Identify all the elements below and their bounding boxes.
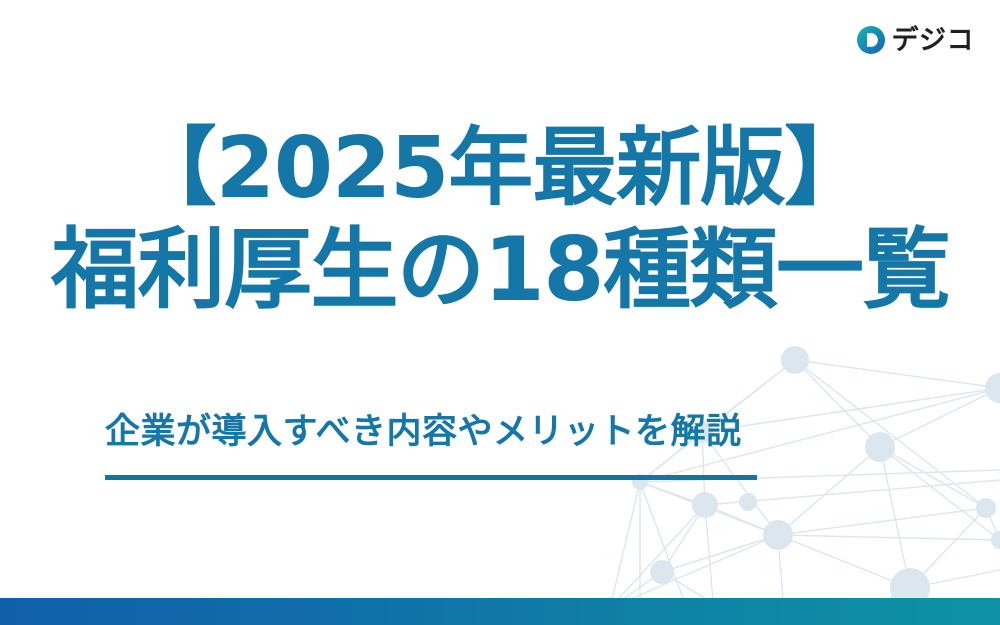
thumbnail-canvas: デジコ 【2025年最新版】 福利厚生の18種類一覧 企業が導入すべき内容やメリ…: [0, 0, 1000, 625]
bottom-gradient-bar: [0, 598, 1000, 625]
digico-circle-d-mark-icon: [857, 26, 885, 54]
page-title: 【2025年最新版】 福利厚生の18種類一覧: [0, 118, 1000, 320]
logo-wordmark: デジコ: [892, 27, 975, 54]
page-title-line-1: 【2025年最新版】: [0, 118, 1000, 219]
subtitle-underline: [105, 475, 757, 480]
subtitle-block: 企業が導入すべき内容やメリットを解説: [105, 408, 757, 480]
brand-logo[interactable]: デジコ: [857, 26, 975, 54]
page-subtitle: 企業が導入すべき内容やメリットを解説: [105, 408, 757, 456]
page-title-line-2: 福利厚生の18種類一覧: [0, 219, 1000, 320]
